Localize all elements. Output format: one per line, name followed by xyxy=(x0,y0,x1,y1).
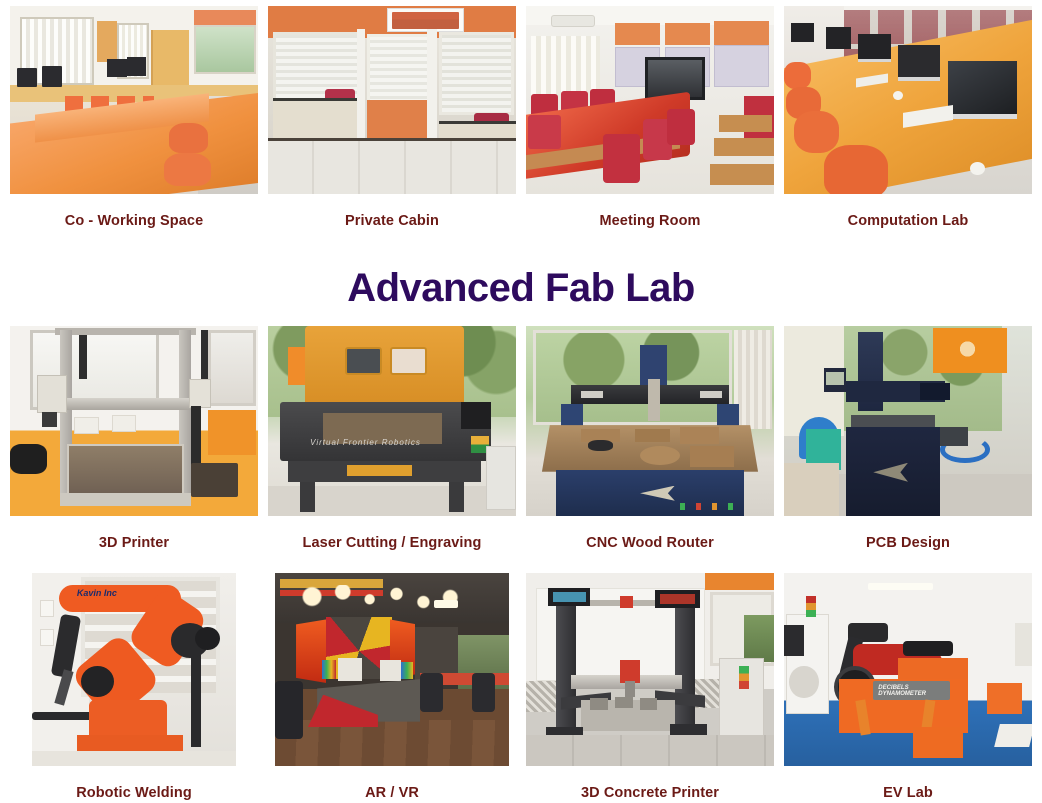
page-title: Advanced Fab Lab xyxy=(0,268,1042,308)
facility-caption: Robotic Welding xyxy=(76,785,192,801)
photo-artwork xyxy=(10,326,258,516)
photo-artwork xyxy=(268,6,516,194)
facility-card-private-cabin[interactable]: Private Cabin xyxy=(268,6,516,229)
photo-artwork xyxy=(526,573,774,766)
facility-caption: Computation Lab xyxy=(848,213,969,229)
facility-photo-ar-vr[interactable] xyxy=(275,573,509,766)
advanced-fab-lab-row-2: Kavin Inc Robotic Welding xyxy=(0,573,1042,801)
facility-card-cnc-wood-router[interactable]: CNC Wood Router xyxy=(526,326,774,551)
facility-caption: Co - Working Space xyxy=(65,213,204,229)
facility-photo-ev-lab[interactable]: DECIBELS DYNAMOMETER xyxy=(784,573,1032,766)
facility-caption: Private Cabin xyxy=(345,213,439,229)
facilities-row-1: Co - Working Space Private Cabin xyxy=(0,6,1042,229)
photo-artwork: DECIBELS DYNAMOMETER xyxy=(784,573,1032,766)
facilities-page: Co - Working Space Private Cabin xyxy=(0,0,1042,803)
facility-card-ev-lab[interactable]: DECIBELS DYNAMOMETER EV Lab xyxy=(784,573,1032,801)
facility-caption: EV Lab xyxy=(883,785,933,801)
facility-card-robotic-welding[interactable]: Kavin Inc Robotic Welding xyxy=(10,573,258,801)
laser-machine-brand-text: Virtual Frontier Robotics xyxy=(310,438,446,453)
facility-photo-private-cabin[interactable] xyxy=(268,6,516,194)
facility-caption: 3D Printer xyxy=(99,535,169,551)
facility-caption: AR / VR xyxy=(365,785,419,801)
facility-card-pcb-design[interactable]: PCB Design xyxy=(784,326,1032,551)
facility-caption: 3D Concrete Printer xyxy=(581,785,719,801)
photo-artwork xyxy=(784,326,1032,516)
photo-artwork xyxy=(10,6,258,194)
facility-card-computation-lab[interactable]: Computation Lab xyxy=(784,6,1032,229)
facility-photo-robotic-welding[interactable]: Kavin Inc xyxy=(32,573,236,766)
photo-artwork xyxy=(526,6,774,194)
facility-photo-3d-concrete-printer[interactable] xyxy=(526,573,774,766)
facility-photo-co-working-space[interactable] xyxy=(10,6,258,194)
facility-card-ar-vr[interactable]: AR / VR xyxy=(268,573,516,801)
facility-photo-cnc-wood-router[interactable] xyxy=(526,326,774,516)
photo-artwork: Kavin Inc xyxy=(32,573,236,766)
facility-photo-meeting-room[interactable] xyxy=(526,6,774,194)
dynamometer-sign-text: DECIBELS DYNAMOMETER xyxy=(878,685,945,697)
facility-caption: Laser Cutting / Engraving xyxy=(303,535,482,551)
facility-photo-computation-lab[interactable] xyxy=(784,6,1032,194)
facility-photo-3d-printer[interactable] xyxy=(10,326,258,516)
photo-artwork: Virtual Frontier Robotics xyxy=(268,326,516,516)
photo-artwork xyxy=(275,573,509,766)
facility-card-3d-concrete-printer[interactable]: 3D Concrete Printer xyxy=(526,573,774,801)
facility-caption: PCB Design xyxy=(866,535,950,551)
facility-caption: Meeting Room xyxy=(599,213,700,229)
facility-card-laser-cutting-engraving[interactable]: Virtual Frontier Robotics Laser Cutting … xyxy=(268,326,516,551)
facility-photo-laser-cutter[interactable]: Virtual Frontier Robotics xyxy=(268,326,516,516)
facility-card-co-working-space[interactable]: Co - Working Space xyxy=(10,6,258,229)
facility-photo-pcb-design[interactable] xyxy=(784,326,1032,516)
photo-artwork xyxy=(784,6,1032,194)
facility-card-3d-printer[interactable]: 3D Printer xyxy=(10,326,258,551)
facility-caption: CNC Wood Router xyxy=(586,535,714,551)
section-heading-wrap: Advanced Fab Lab xyxy=(0,268,1042,308)
robot-brand-text: Kavin Inc xyxy=(77,588,146,605)
advanced-fab-lab-row-1: 3D Printer Virtual Frontier Robotics Las… xyxy=(0,326,1042,551)
photo-artwork xyxy=(526,326,774,516)
facility-card-meeting-room[interactable]: Meeting Room xyxy=(526,6,774,229)
